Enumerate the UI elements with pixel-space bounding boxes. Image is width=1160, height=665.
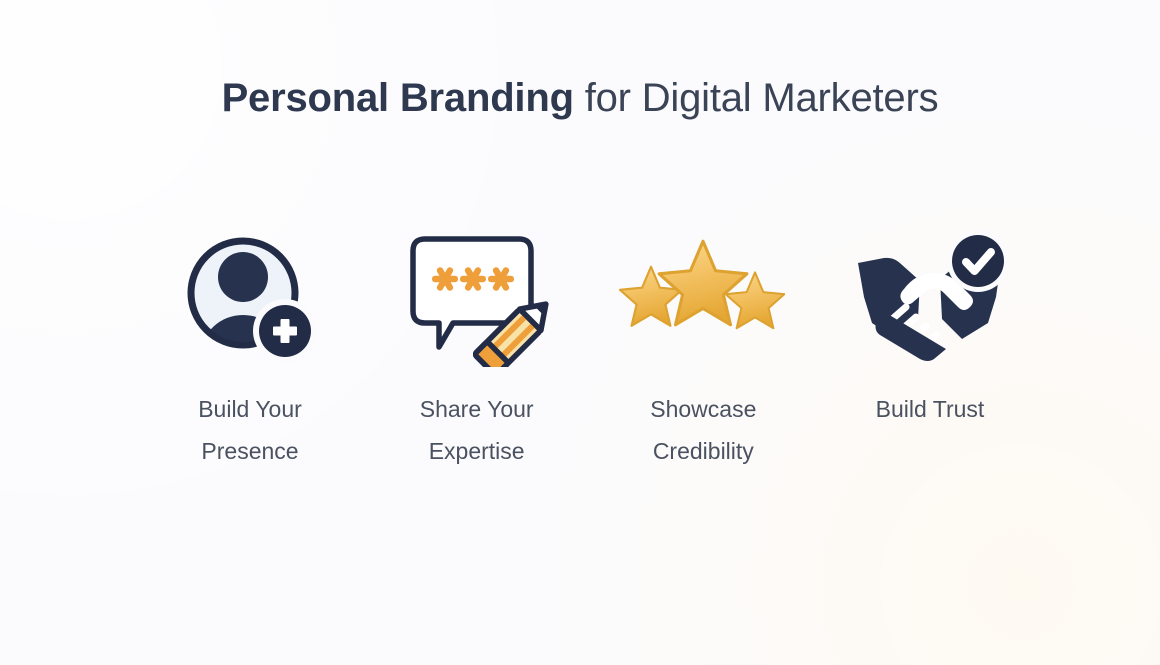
star-center [659, 241, 747, 325]
icon-container [175, 222, 325, 372]
pillar-row: Build Your Presence [150, 222, 1030, 472]
pillar-card-showcase-credibility[interactable]: Showcase Credibility [603, 222, 803, 472]
pillar-label-line1: Build Your [198, 396, 302, 422]
infographic-slide: Personal Branding for Digital Marketers [0, 0, 1160, 665]
pillar-label: Share Your Expertise [420, 388, 534, 472]
page-title-bold: Personal Branding [222, 76, 574, 120]
pillar-label-line1: Share Your [420, 396, 534, 422]
pillar-card-share-your-expertise[interactable]: Share Your Expertise [377, 222, 577, 472]
three-stars-icon [613, 227, 793, 367]
pillar-label: Build Your Presence [198, 388, 302, 472]
pillar-label-line2: Expertise [429, 438, 525, 464]
pillar-label: Showcase Credibility [650, 388, 756, 472]
pillar-label-line2: Presence [201, 438, 298, 464]
icon-container [397, 222, 557, 372]
page-title: Personal Branding for Digital Marketers [0, 76, 1160, 121]
pillar-label-line2: Credibility [653, 438, 754, 464]
speech-bubble-pencil-icon [397, 227, 557, 367]
handshake-check-icon [850, 227, 1010, 367]
icon-container [850, 222, 1010, 372]
pillar-card-build-your-presence[interactable]: Build Your Presence [150, 222, 350, 472]
icon-container [613, 222, 793, 372]
page-title-light: for Digital Marketers [574, 76, 939, 120]
pillar-card-build-trust[interactable]: Build Trust [830, 222, 1030, 430]
pillar-label: Build Trust [876, 388, 985, 430]
pillar-label-line1: Build Trust [876, 396, 985, 422]
user-plus-icon [175, 227, 325, 367]
pillar-label-line1: Showcase [650, 396, 756, 422]
